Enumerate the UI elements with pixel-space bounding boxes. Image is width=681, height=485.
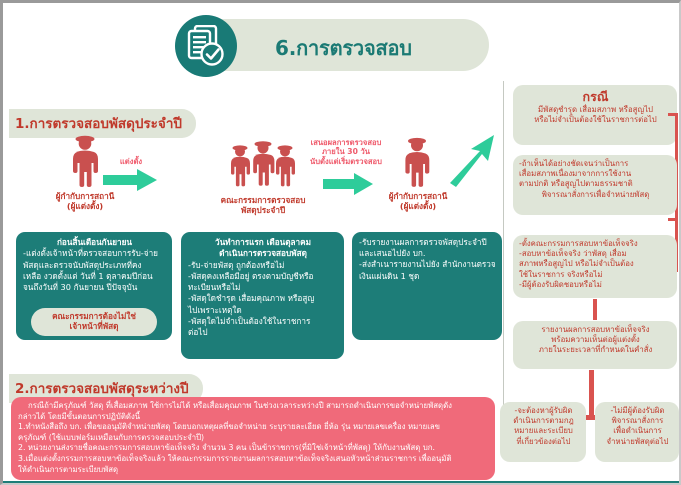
bottom-accent-bar [3, 481, 681, 483]
arrow-1-label: แต่งตั้ง [103, 157, 159, 166]
case-obvious-deterioration-box: -ถ้าเห็นได้อย่างชัดเจนว่าเป็นการ เสื่อมส… [513, 155, 677, 215]
slide-canvas: 6.การตรวจสอบ 1.การตรวจสอบพัสดุประจำปี ผู… [0, 0, 681, 485]
case-liable-party-box: -จะต้องหาผู้รับผิด ดำเนินการตามกฎ หมายแล… [500, 402, 586, 462]
mid-year-audit-box: กรณีถ้ามีครุภัณฑ์ วัสดุ ที่เสื่อมสภาพ ใช… [11, 397, 495, 480]
case-no-liable-party-box: -ไม่มีผู้ต้องรับผิด พิจารณาสั่งการ เพื่อ… [595, 402, 679, 462]
figure-2-label: คณะกรรมการตรวจสอบ พัสดุประจำปี [197, 195, 329, 215]
arrow-2-label: เสนอผลการตรวจสอบ ภายใน 30 วัน นับตั้งแต่… [294, 138, 398, 166]
figure-3-label: ผู้กำกับการสถานี (ผู้แต่งตั้ง) [355, 191, 481, 211]
case-bracket-tip-top [668, 113, 676, 116]
case-report-findings-box: รายงานผลการสอบหาข้อเท็จจริง พร้อมความเห็… [513, 321, 677, 369]
document-checkmark-icon [175, 15, 237, 77]
case-fact-finding-committee-box: -ตั้งคณะกรรมการสอบหาข้อเท็จจริง -สอบหาข้… [513, 235, 677, 298]
three-people-icon [227, 139, 299, 195]
diagonal-up-right-arrow-icon [446, 131, 498, 191]
committee-note-pill: คณะกรรมการต้องไม่ใช่ เจ้าหน้าที่พัสดุ [31, 308, 157, 336]
case-vertical-connector-1 [593, 299, 597, 320]
case-header-box: กรณี มีพัสดุชำรุด เสื่อมสภาพ หรือสูญไป ห… [513, 85, 677, 145]
right-arrow-icon [103, 169, 157, 195]
single-person-icon [63, 133, 107, 193]
annual-audit-step3-box: -รับรายงานผลการตรวจพัสดุประจำปี และเสนอไ… [352, 232, 502, 340]
single-person-icon [396, 135, 438, 193]
case-vertical-connector-2 [589, 370, 594, 418]
column-divider [503, 81, 504, 411]
page-title: 6.การตรวจสอบ [275, 32, 485, 64]
annual-audit-step2-box: วันทำการแรก เดือนตุลาคม ดำเนินการตรวจสอบ… [181, 232, 344, 359]
